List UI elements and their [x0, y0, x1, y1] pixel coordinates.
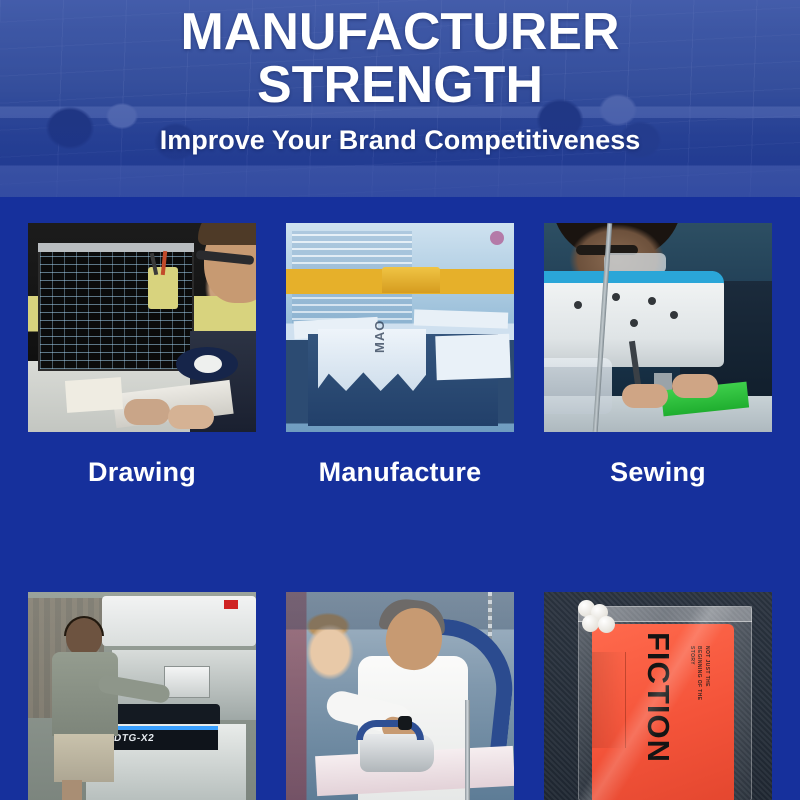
- page-title-line2: STRENGTH: [180, 59, 619, 112]
- hero-header: MANUFACTURER STRENGTH Improve Your Brand…: [0, 0, 800, 197]
- printer-indicator: [224, 600, 238, 609]
- ironing-photo[interactable]: [286, 592, 514, 800]
- iron-handle: [356, 720, 424, 740]
- process-grid: Drawing MAO Manufacture: [28, 223, 772, 800]
- cut-pieces: [435, 334, 510, 381]
- sewing-machine-accent: [544, 271, 724, 283]
- process-cell-drawing[interactable]: Drawing: [28, 223, 256, 512]
- mouse-icon: [194, 355, 222, 373]
- process-cell-packaging[interactable]: FICTION NOT JUST THE BEGINNING OF THE ST…: [544, 592, 772, 800]
- operator-shorts: [54, 734, 114, 782]
- cutting-machine-head: [382, 267, 440, 293]
- garment-print-subtext: NOT JUST THE BEGINNING OF THE STORY: [688, 646, 711, 708]
- machine-bolt: [574, 301, 582, 309]
- pattern-sheet: [414, 309, 509, 328]
- page-subtitle: Improve Your Brand Competitiveness: [160, 125, 641, 156]
- operator-shirt: [52, 652, 118, 736]
- garment-print-text: FICTION: [640, 632, 676, 763]
- packaging-photo[interactable]: FICTION NOT JUST THE BEGINNING OF THE ST…: [544, 592, 772, 800]
- manufacturer-strength-banner: MANUFACTURER STRENGTH Improve Your Brand…: [0, 0, 800, 800]
- printing-photo[interactable]: DTG-X2: [28, 592, 256, 800]
- page-title-line1: MANUFACTURER: [180, 6, 619, 59]
- printer-operator: [52, 618, 114, 800]
- garment-fold-line: [592, 652, 626, 748]
- manufacture-photo[interactable]: MAO: [286, 223, 514, 432]
- right-hand: [168, 405, 214, 429]
- operator-leg: [62, 780, 82, 800]
- right-hand: [672, 374, 718, 398]
- machine-bolt: [648, 297, 656, 305]
- machine-bolt: [612, 293, 620, 301]
- drawing-photo[interactable]: [28, 223, 256, 432]
- printer-model-label: DTG-X2: [113, 733, 155, 744]
- sewing-photo[interactable]: [544, 223, 772, 432]
- hero-text-block: MANUFACTURER STRENGTH Improve Your Brand…: [0, 0, 800, 197]
- machine-bolt: [630, 319, 638, 327]
- face-mask-icon: [604, 253, 666, 273]
- process-cell-ironing[interactable]: Ironing: [286, 592, 514, 800]
- caption-manufacture: Manufacture: [286, 432, 514, 512]
- machine-accent: [312, 279, 342, 291]
- process-cell-manufacture[interactable]: MAO Manufacture: [286, 223, 514, 512]
- monitor-toolbar: [38, 243, 194, 252]
- process-cell-sewing[interactable]: Sewing: [544, 223, 772, 512]
- notepad: [65, 377, 123, 413]
- fabric-label: MAO: [372, 320, 387, 353]
- print-carriage: [164, 666, 210, 698]
- caption-drawing: Drawing: [28, 432, 256, 512]
- process-cell-printing[interactable]: DTG-X2 Printing: [28, 592, 256, 800]
- iron-knob: [398, 716, 412, 730]
- flower-decoration: [578, 600, 618, 634]
- flower-petal: [598, 616, 615, 633]
- flower-petal: [582, 615, 599, 632]
- left-hand: [622, 384, 668, 408]
- caption-sewing: Sewing: [544, 432, 772, 512]
- operator-head: [66, 618, 102, 656]
- designer-hair: [198, 223, 256, 245]
- page-title: MANUFACTURER STRENGTH: [180, 6, 619, 112]
- support-pole: [465, 700, 470, 800]
- left-hand: [124, 399, 170, 425]
- machine-bolt: [670, 311, 678, 319]
- balloon-icon: [490, 231, 504, 245]
